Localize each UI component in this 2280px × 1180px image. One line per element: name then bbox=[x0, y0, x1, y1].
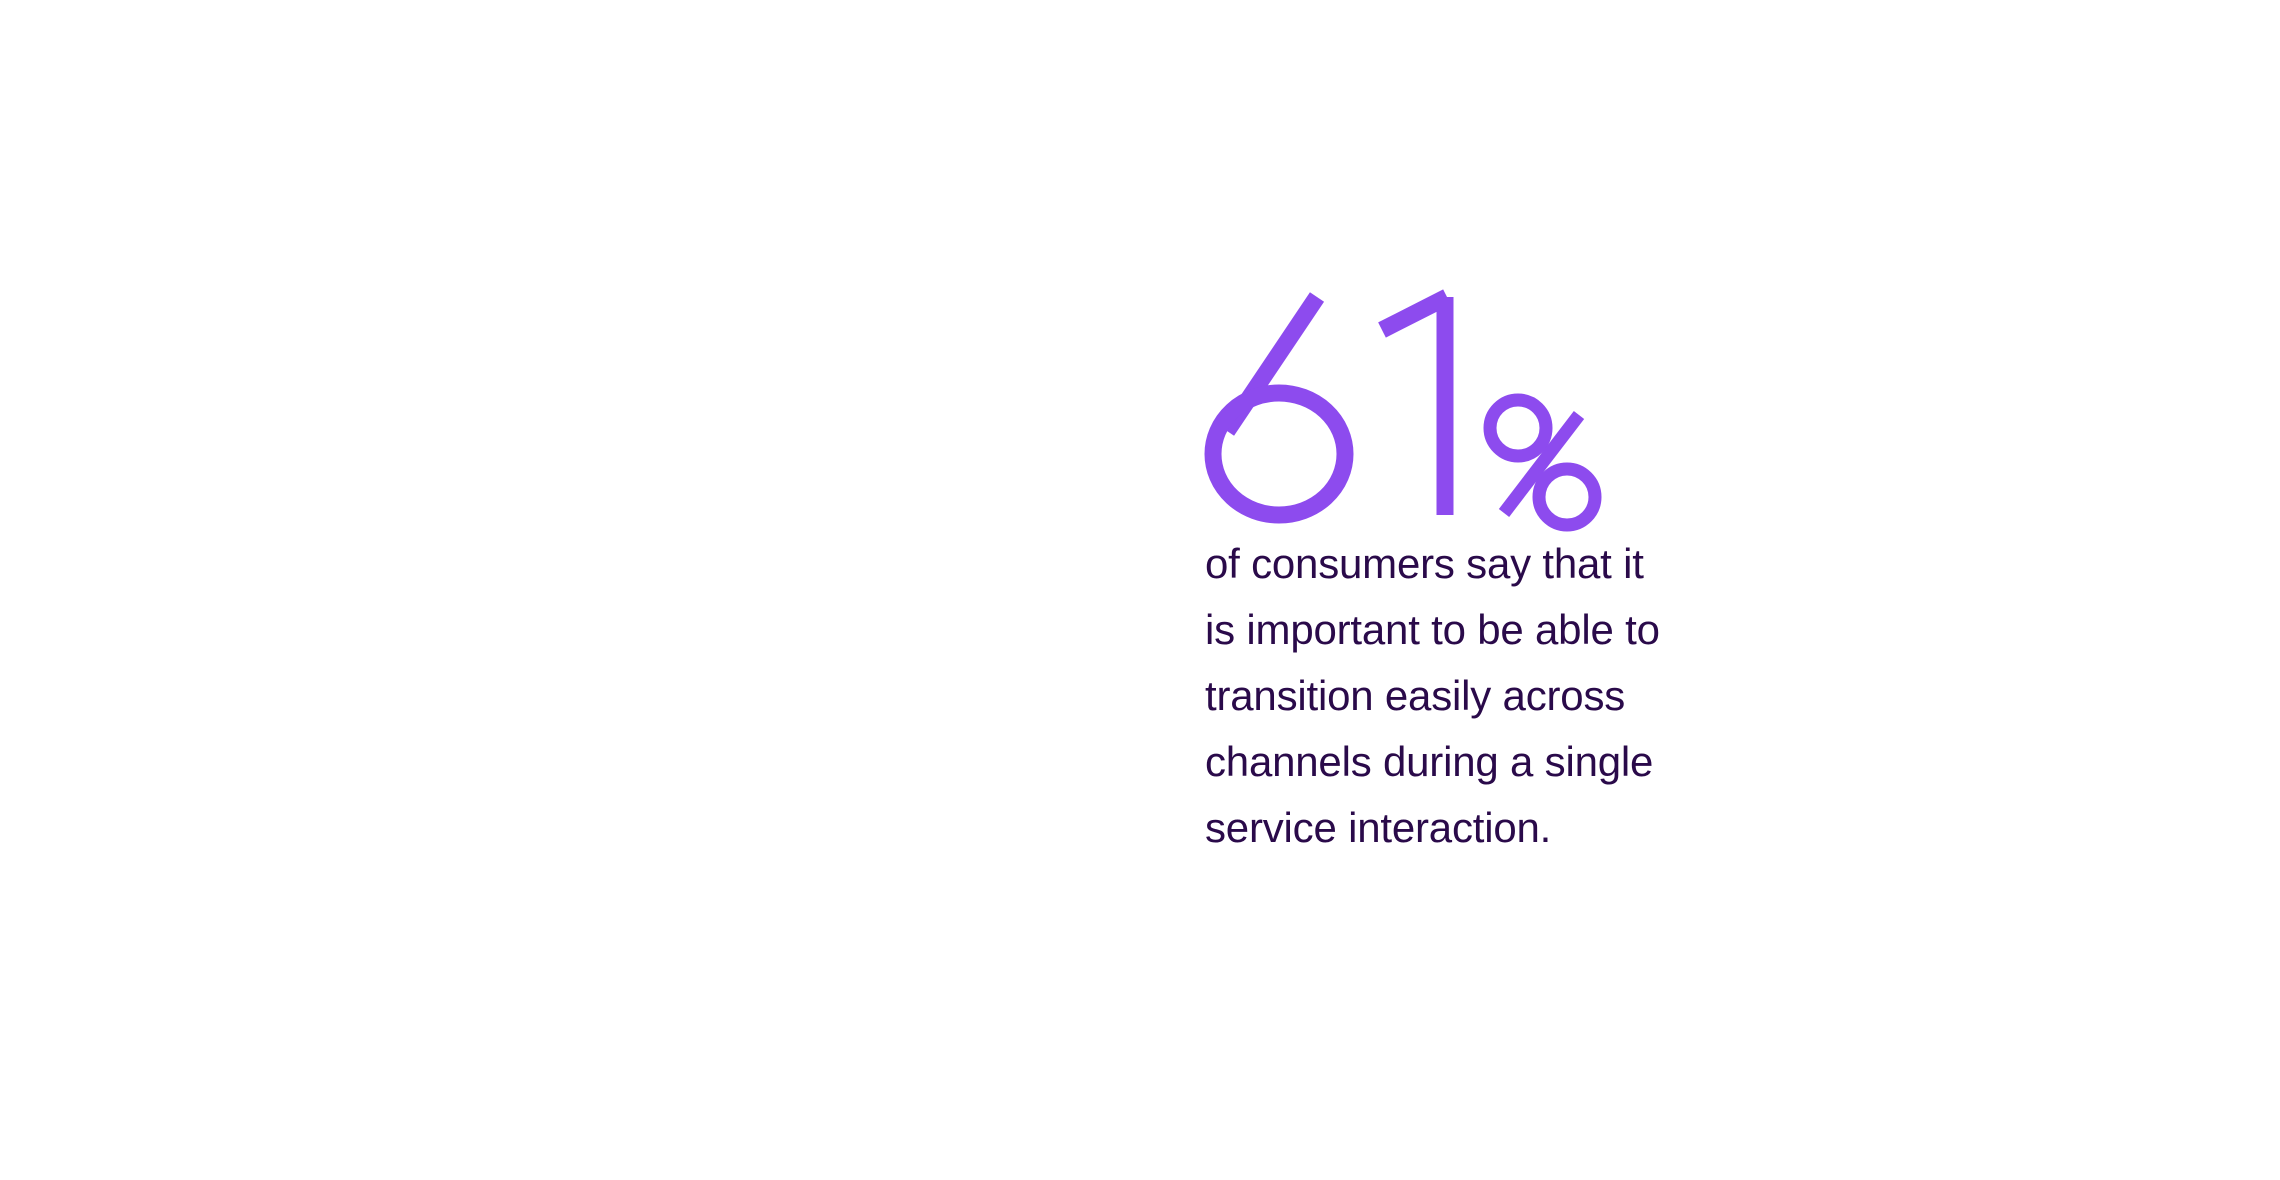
percent-sign-glyph bbox=[1490, 400, 1595, 525]
stat-description: of consumers say that it is important to… bbox=[1205, 531, 1775, 861]
slide-canvas: 61% of co bbox=[0, 0, 2280, 1180]
statistic-callout: 61% of co bbox=[1205, 286, 1785, 861]
stat-value-graphic bbox=[1205, 286, 1605, 531]
stat-value-group: 61% bbox=[1205, 286, 1785, 531]
digit-six-glyph bbox=[1213, 297, 1345, 515]
digit-one-glyph bbox=[1382, 297, 1447, 515]
